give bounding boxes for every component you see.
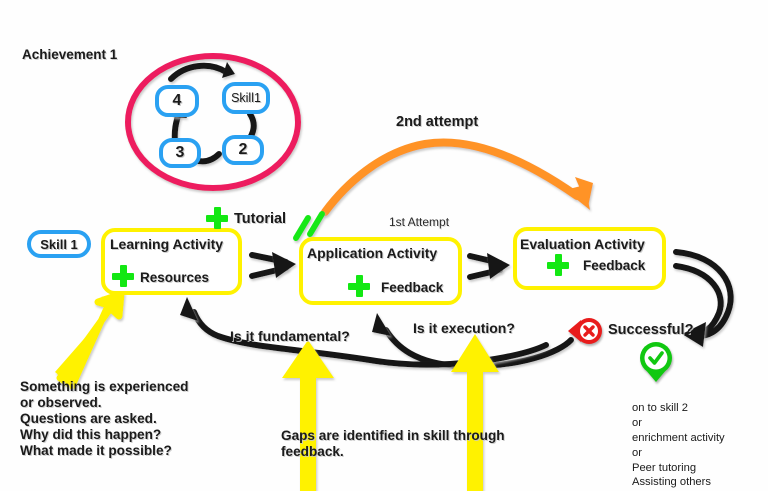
node-skill1-label: Skill1 [231, 91, 261, 105]
learning-activity-subitem: Resources [140, 270, 209, 285]
red-x-marker-icon [568, 316, 604, 346]
green-accent-slashes [296, 214, 322, 238]
successful-label: Successful? [608, 322, 693, 339]
yellow-arrow-fundamental [282, 340, 334, 491]
is-it-fundamental-label: Is it fundamental? [230, 328, 350, 345]
plus-icon-application-feedback [348, 275, 370, 297]
arrowhead-4 [372, 313, 391, 336]
plus-icon-resources [112, 265, 134, 287]
node-skill1[interactable]: Skill1 [222, 82, 270, 114]
arrow-learning-to-application [252, 255, 286, 276]
achievement-title: Achievement 1 [22, 47, 117, 63]
first-attempt-label: 1st Attempt [389, 215, 449, 229]
diagram-canvas: Achievement 1 4 Skill1 3 2 Skill 1 Learn… [0, 0, 768, 491]
arrowhead-2 [487, 253, 510, 279]
skill-1-pill-label: Skill 1 [40, 237, 78, 252]
onward-note: on to skill 2 or enrichment activity or … [632, 401, 725, 490]
is-it-execution-label: Is it execution? [413, 320, 515, 337]
arrowhead-1 [272, 252, 296, 278]
arrowhead-5 [180, 297, 198, 321]
green-check-marker-icon [638, 341, 674, 383]
arrow-application-to-evaluation [470, 256, 500, 277]
gaps-note: Gaps are identified in skill through fee… [281, 428, 505, 460]
plus-icon-evaluation-feedback [547, 254, 569, 276]
yellow-arrow-experience [55, 292, 122, 386]
node-3[interactable]: 3 [159, 138, 201, 168]
node-4[interactable]: 4 [155, 85, 199, 117]
plus-icon-tutorial [206, 207, 228, 229]
node-4-label: 4 [173, 92, 182, 110]
node-2[interactable]: 2 [222, 135, 264, 165]
application-activity-title: Application Activity [307, 245, 437, 261]
experience-note: Something is experienced or observed. Qu… [20, 379, 188, 459]
yellow-arrow-execution [451, 334, 499, 491]
node-2-label: 2 [239, 141, 248, 159]
second-attempt-arrow [325, 143, 593, 212]
node-3-label: 3 [176, 144, 185, 162]
second-attempt-label: 2nd attempt [396, 114, 478, 131]
achievement-ellipse [128, 56, 298, 188]
evaluation-activity-subitem: Feedback [583, 258, 645, 273]
evaluation-activity-title: Evaluation Activity [520, 236, 645, 252]
learning-activity-title: Learning Activity [110, 236, 223, 252]
application-activity-subitem: Feedback [381, 280, 443, 295]
skill-1-pill[interactable]: Skill 1 [27, 230, 91, 258]
tutorial-label: Tutorial [234, 211, 286, 228]
